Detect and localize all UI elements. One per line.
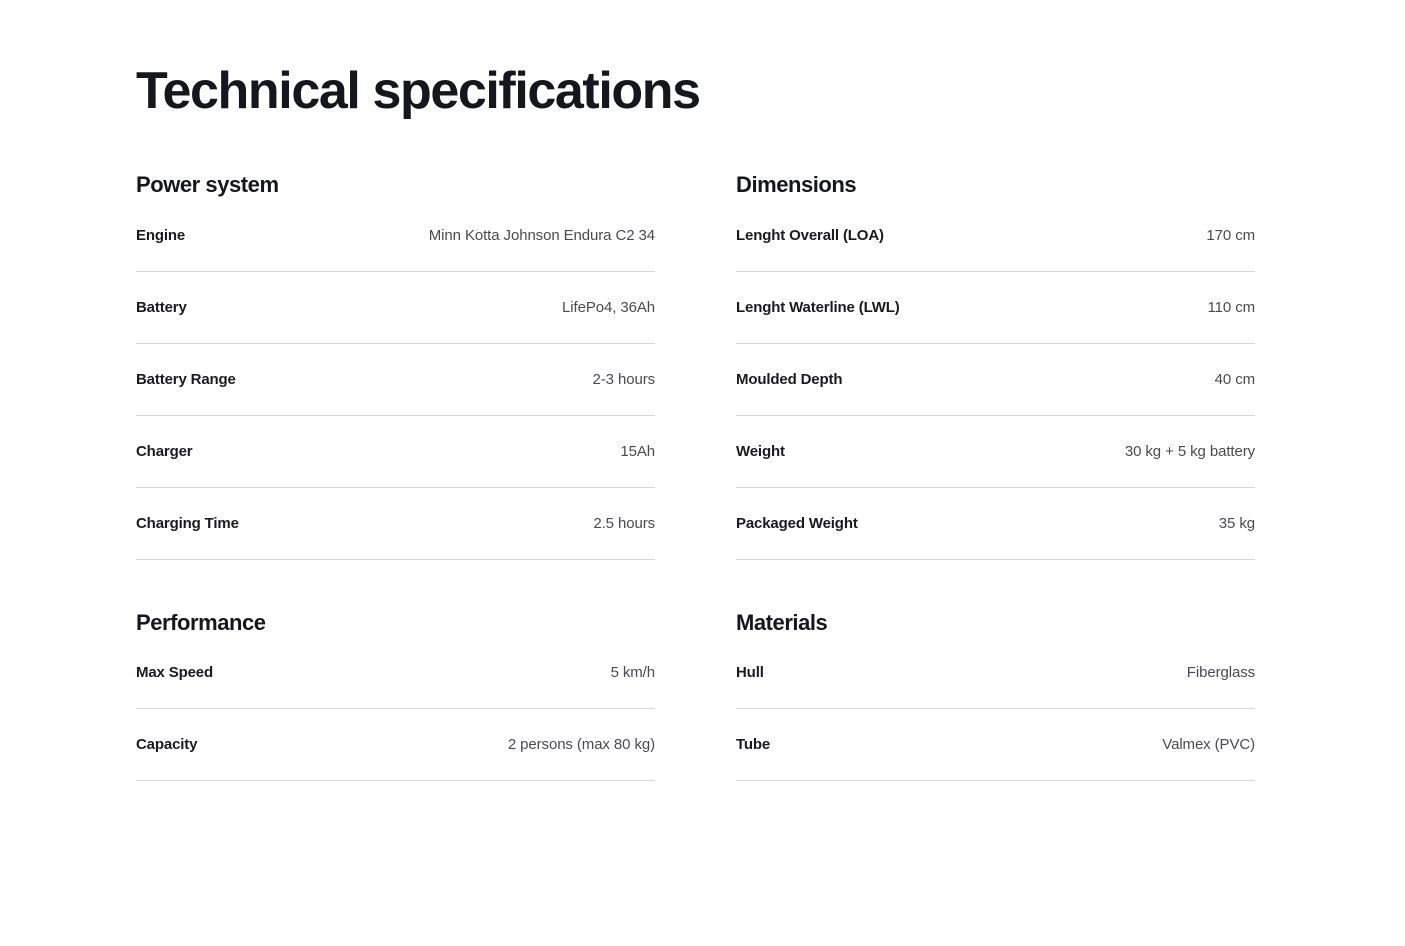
- spec-value: 30 kg + 5 kg battery: [1125, 443, 1255, 460]
- spec-label: Packaged Weight: [736, 515, 858, 532]
- spec-label: Battery: [136, 299, 187, 316]
- right-column: DimensionsLenght Overall (LOA)170 cmLeng…: [736, 172, 1255, 781]
- spec-columns: Power systemEngineMinn Kotta Johnson End…: [136, 172, 1269, 781]
- spec-section: MaterialsHullFiberglassTubeValmex (PVC): [736, 610, 1255, 781]
- spec-row: BatteryLifePo4, 36Ah: [136, 272, 655, 344]
- spec-section: DimensionsLenght Overall (LOA)170 cmLeng…: [736, 172, 1255, 559]
- spec-label: Weight: [736, 443, 785, 460]
- spec-value: 2 persons (max 80 kg): [508, 736, 655, 753]
- spec-row: EngineMinn Kotta Johnson Endura C2 34: [136, 227, 655, 272]
- spec-value: 35 kg: [1219, 515, 1255, 532]
- section-heading: Power system: [136, 172, 655, 198]
- spec-label: Lenght Overall (LOA): [736, 227, 884, 244]
- spec-row: Lenght Overall (LOA)170 cm: [736, 227, 1255, 272]
- spec-value: 40 cm: [1215, 371, 1255, 388]
- spec-label: Engine: [136, 227, 185, 244]
- spec-row: Charger15Ah: [136, 416, 655, 488]
- spec-row: Moulded Depth40 cm: [736, 344, 1255, 416]
- spec-row: Lenght Waterline (LWL)110 cm: [736, 272, 1255, 344]
- spec-value: Valmex (PVC): [1162, 736, 1255, 753]
- spec-row: Weight30 kg + 5 kg battery: [736, 416, 1255, 488]
- spec-row: Max Speed5 km/h: [136, 664, 655, 709]
- section-heading: Performance: [136, 610, 655, 636]
- spec-value: 170 cm: [1206, 227, 1255, 244]
- spec-value: Minn Kotta Johnson Endura C2 34: [429, 227, 655, 244]
- spec-value: 2.5 hours: [593, 515, 655, 532]
- left-column: Power systemEngineMinn Kotta Johnson End…: [136, 172, 655, 781]
- spec-label: Max Speed: [136, 664, 213, 681]
- section-heading: Materials: [736, 610, 1255, 636]
- spec-value: 15Ah: [620, 443, 655, 460]
- spec-label: Hull: [736, 664, 764, 681]
- spec-row: TubeValmex (PVC): [736, 709, 1255, 781]
- spec-rows: HullFiberglassTubeValmex (PVC): [736, 664, 1255, 781]
- spec-rows: Lenght Overall (LOA)170 cmLenght Waterli…: [736, 227, 1255, 560]
- spec-row: Charging Time2.5 hours: [136, 488, 655, 560]
- spec-value: 5 km/h: [611, 664, 655, 681]
- spec-row: HullFiberglass: [736, 664, 1255, 709]
- spec-label: Tube: [736, 736, 770, 753]
- spec-value: LifePo4, 36Ah: [562, 299, 655, 316]
- spec-label: Battery Range: [136, 371, 236, 388]
- spec-value: Fiberglass: [1187, 664, 1255, 681]
- spec-label: Capacity: [136, 736, 197, 753]
- spec-rows: EngineMinn Kotta Johnson Endura C2 34Bat…: [136, 227, 655, 560]
- spec-label: Lenght Waterline (LWL): [736, 299, 900, 316]
- page-title: Technical specifications: [136, 0, 1269, 120]
- spec-section: Power systemEngineMinn Kotta Johnson End…: [136, 172, 655, 559]
- spec-label: Charger: [136, 443, 192, 460]
- section-heading: Dimensions: [736, 172, 1255, 198]
- spec-value: 2-3 hours: [593, 371, 655, 388]
- spec-label: Moulded Depth: [736, 371, 842, 388]
- spec-rows: Max Speed5 km/hCapacity2 persons (max 80…: [136, 664, 655, 781]
- tech-specs-page: Technical specifications Power systemEng…: [0, 0, 1405, 946]
- spec-row: Packaged Weight35 kg: [736, 488, 1255, 560]
- spec-section: PerformanceMax Speed5 km/hCapacity2 pers…: [136, 610, 655, 781]
- spec-label: Charging Time: [136, 515, 239, 532]
- spec-value: 110 cm: [1208, 299, 1255, 316]
- spec-row: Capacity2 persons (max 80 kg): [136, 709, 655, 781]
- spec-row: Battery Range2-3 hours: [136, 344, 655, 416]
